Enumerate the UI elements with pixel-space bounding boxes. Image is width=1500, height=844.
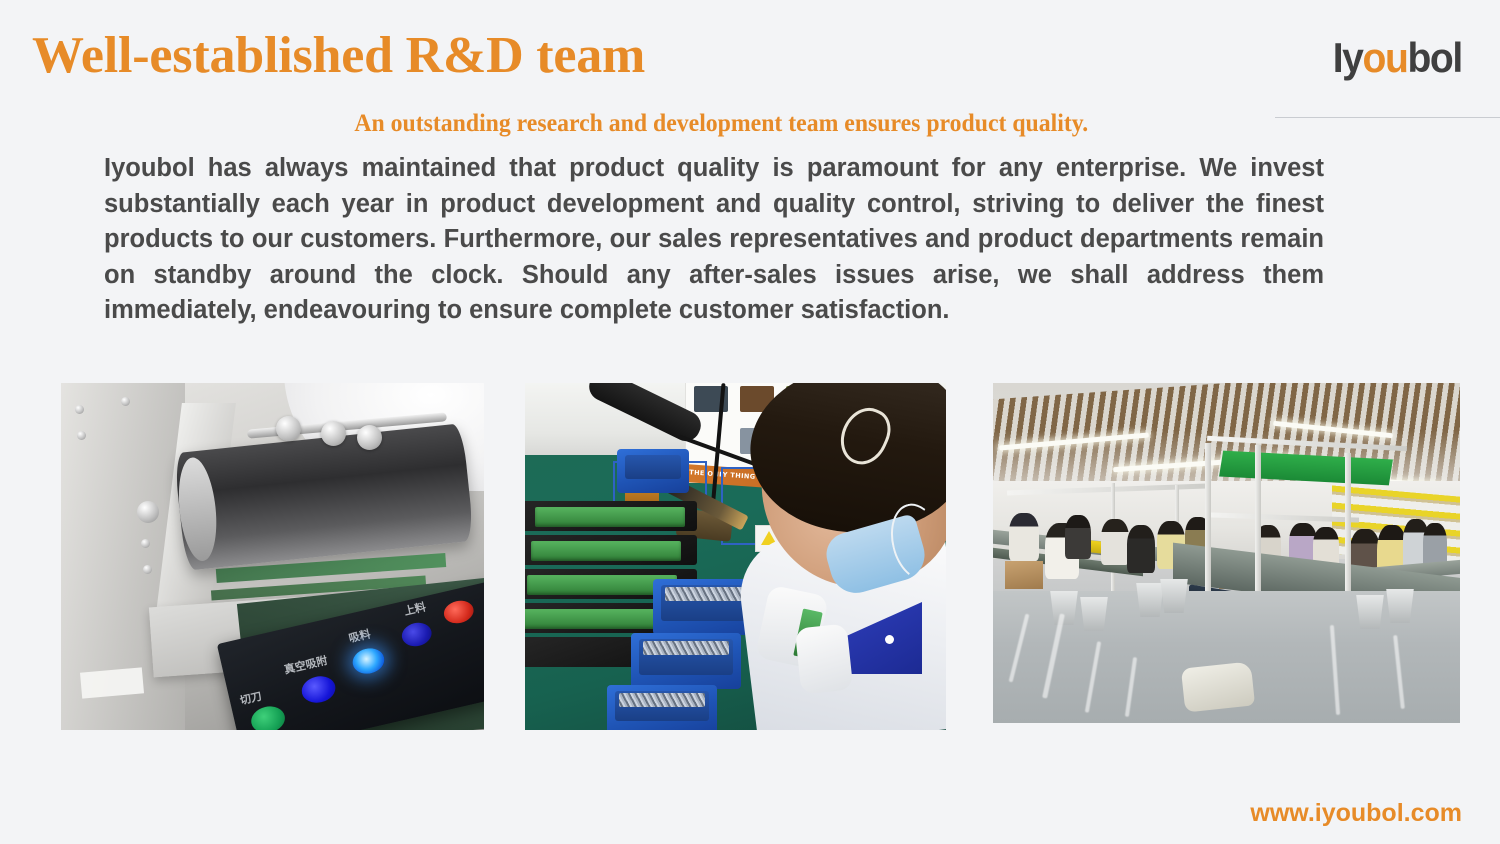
panel-button-blue (400, 620, 434, 649)
panel-button-green (482, 579, 484, 606)
footer-website-url[interactable]: www.iyoubol.com (1250, 798, 1462, 828)
worker (1127, 525, 1155, 573)
coat-badge (885, 635, 894, 644)
parts-bin (617, 449, 689, 493)
roller-knob (276, 416, 301, 441)
photo-2-scene: THE ONLY THING BETTER YOU CAN DO WITH A … (525, 383, 946, 730)
subtitle: An outstanding research and development … (252, 108, 1191, 140)
page-title: Well-established R&D team (32, 24, 645, 88)
panel-button-green (249, 703, 288, 730)
gloved-hand (795, 623, 854, 694)
panel-button-blue (299, 673, 338, 706)
paper-label (80, 667, 144, 698)
roller-knob (357, 425, 382, 450)
pcb-module (535, 507, 685, 527)
screw (121, 397, 130, 406)
panel-label-1: 切刀 (238, 688, 263, 709)
screws-pile (619, 693, 705, 707)
roller-knob (321, 421, 346, 446)
screw (141, 539, 150, 548)
body-paragraph: Iyoubol has always maintained that produ… (104, 151, 1324, 329)
screw (137, 501, 159, 523)
screw (77, 431, 86, 440)
screw (143, 565, 152, 574)
logo-part-3: bol (1408, 34, 1462, 81)
parts-bin (631, 633, 741, 689)
panel-button-red (442, 598, 476, 626)
pcb-module (531, 541, 681, 561)
cardboard-box (1005, 561, 1043, 589)
photo-factory-floor (993, 383, 1460, 723)
worker (1009, 513, 1039, 561)
worker (1065, 515, 1091, 559)
panel-label-4: 上料 (402, 598, 427, 619)
panel-label-3: 吸料 (347, 626, 372, 647)
brand-logo: Iyoubol (1333, 33, 1462, 83)
bin-interior (625, 455, 681, 479)
screw (75, 405, 84, 414)
slide-root: Well-established R&D team Iyoubol An out… (0, 0, 1500, 844)
photo-cutting-machine: 切刀 真空吸附 吸料 上料 (61, 383, 484, 730)
logo-accent: ou (1363, 34, 1408, 81)
packaging-bag (1181, 661, 1255, 712)
panel-label-2: 真空吸附 (282, 652, 328, 677)
pcb-module (525, 609, 673, 629)
photo-qc-worker: THE ONLY THING BETTER YOU CAN DO WITH A … (525, 383, 946, 730)
header-divider (1275, 117, 1500, 118)
screws-pile (643, 641, 729, 655)
screws-pile (665, 587, 751, 601)
photo-1-scene: 切刀 真空吸附 吸料 上料 (61, 383, 484, 730)
parts-bin (607, 685, 717, 730)
photo-3-scene (993, 383, 1460, 723)
panel-button-blue-lit (350, 645, 387, 677)
worker (1101, 519, 1129, 565)
logo-part-1: Iy (1333, 34, 1363, 81)
